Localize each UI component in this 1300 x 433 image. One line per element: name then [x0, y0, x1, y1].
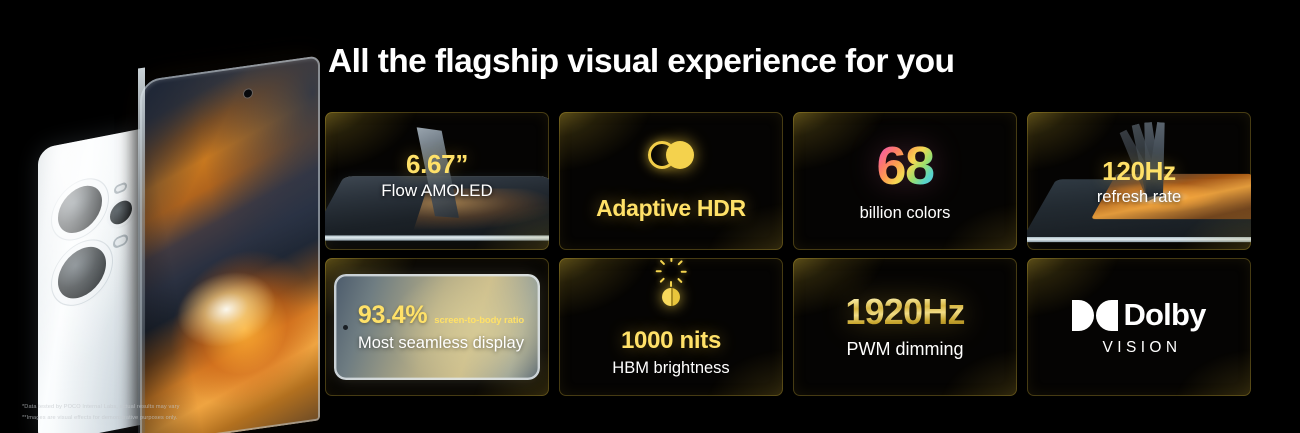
feature-card-color-depth[interactable]: 68 billion colors: [793, 112, 1017, 250]
sensor-icon: [113, 233, 128, 250]
card-value: Adaptive HDR: [596, 195, 746, 222]
card-label: HBM brightness: [612, 359, 729, 378]
sun-ray: [670, 281, 672, 287]
card-label: Flow AMOLED: [381, 181, 492, 201]
phone-bezel: [140, 55, 320, 433]
feature-card-screen-to-body[interactable]: 93.4% screen-to-body ratio Most seamless…: [325, 258, 549, 396]
sun-ray: [677, 277, 683, 283]
sun-ray: [670, 258, 672, 262]
footnote-line-2: **Images are visual effects for demonstr…: [22, 413, 302, 423]
content-panel: All the flagship visual experience for y…: [324, 0, 1300, 433]
camera-lens-wide-icon: [58, 239, 106, 306]
sun-ray: [656, 270, 662, 272]
dolby-d-right: [1096, 300, 1118, 331]
card-label: refresh rate: [1097, 188, 1181, 207]
product-image: *Data tested by POCO Internal Labs, actu…: [0, 0, 320, 433]
feature-card-refresh-rate[interactable]: 120Hz refresh rate: [1027, 112, 1251, 250]
card-value: 93.4%: [358, 301, 427, 330]
dolby-double-d-icon: [1072, 300, 1118, 331]
sun-disc: [662, 288, 680, 306]
camera-lens-macro-icon: [110, 197, 132, 228]
brightness-sun-icon: [651, 277, 691, 317]
footnote-line-1: *Data tested by POCO Internal Labs, actu…: [22, 402, 302, 412]
hdr-overlapping-circles-icon: [648, 141, 694, 169]
feature-card-dolby-vision[interactable]: Dolby VISION: [1027, 258, 1251, 396]
page-title: All the flagship visual experience for y…: [328, 43, 954, 81]
feature-card-brightness[interactable]: 1000 nits HBM brightness: [559, 258, 783, 396]
dolby-wordmark: Dolby: [1123, 297, 1205, 333]
sun-ray: [677, 260, 683, 266]
card-value: 1920Hz: [845, 294, 964, 330]
dolby-logo: Dolby: [1072, 297, 1205, 333]
sun-ray: [659, 277, 665, 283]
card-value: 68: [876, 139, 933, 193]
camera-lens-main-icon: [58, 179, 102, 240]
landscape-phone-screen-icon: 93.4% screen-to-body ratio Most seamless…: [334, 274, 540, 380]
hdr-circle-filled: [666, 141, 694, 169]
feature-card-pwm-dimming[interactable]: 1920Hz PWM dimming: [793, 258, 1017, 396]
camera-island: [56, 165, 132, 311]
phone-front-screen: [140, 55, 320, 433]
card-label: billion colors: [860, 204, 951, 223]
feature-card-display-size[interactable]: 6.67” Flow AMOLED: [325, 112, 549, 250]
card-label: Most seamless display: [358, 334, 524, 353]
footnote-block: *Data tested by POCO Internal Labs, actu…: [22, 402, 302, 423]
card-value-suffix: screen-to-body ratio: [434, 315, 524, 326]
dolby-vision-label: VISION: [1103, 339, 1182, 357]
dolby-d-left: [1072, 300, 1094, 331]
feature-grid: 6.67” Flow AMOLED Adaptive HDR 68 billio…: [325, 112, 1251, 396]
sun-ray: [659, 260, 665, 266]
flash-icon: [114, 181, 127, 195]
card-label: PWM dimming: [846, 339, 963, 360]
phone-edge-highlight: [138, 68, 145, 433]
card-value: 120Hz: [1102, 156, 1176, 187]
sun-ray: [681, 270, 687, 272]
card-value: 6.67”: [406, 149, 468, 180]
card-value: 1000 nits: [621, 327, 721, 355]
feature-card-adaptive-hdr[interactable]: Adaptive HDR: [559, 112, 783, 250]
